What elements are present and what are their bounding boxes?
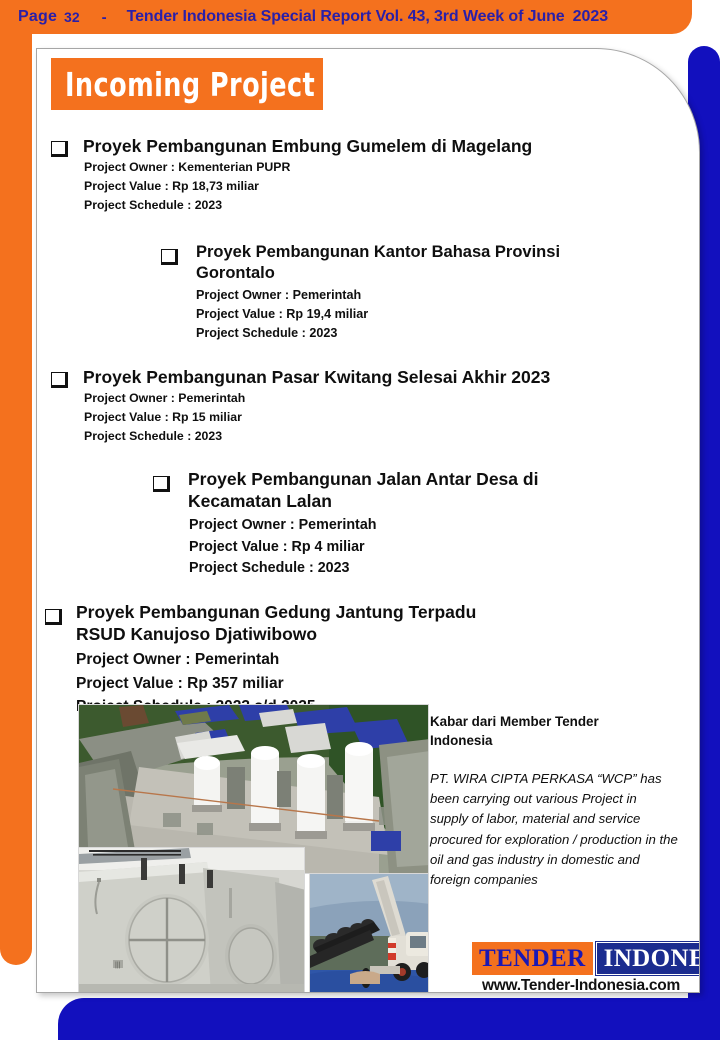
square-bullet-icon [45, 609, 58, 621]
logo-word-indonesia: INDONESIA [596, 942, 700, 975]
logo-word-tender: TENDER [472, 942, 593, 975]
project-item: Proyek Pembangunan Jalan Antar Desa di K… [153, 468, 700, 579]
page-header: Page 32 - Tender Indonesia Special Repor… [18, 4, 608, 30]
header-title: Tender Indonesia Special Report Vol. 43,… [127, 8, 565, 26]
project-details: Project Owner : Pemerintah Project Value… [189, 515, 700, 578]
logo-website-url[interactable]: www.Tender-Indonesia.com [472, 977, 690, 993]
project-item: Proyek Pembangunan Gedung Jantung Terpad… [45, 601, 700, 719]
bottom-blue-bar [58, 998, 720, 1040]
header-year: 2023 [573, 8, 609, 26]
logo-wordmark-row: TENDER INDONESIA [472, 942, 690, 975]
project-value: Project Value : Rp 4 miliar [189, 537, 700, 558]
member-note-body: PT. WIRA CIPTA PERKASA “WCP” has been ca… [430, 769, 678, 890]
left-orange-bar [0, 0, 32, 965]
header-page-label: Page [18, 8, 57, 26]
report-page: Page 32 - Tender Indonesia Special Repor… [0, 0, 720, 1040]
tender-indonesia-logo[interactable]: TENDER INDONESIA www.Tender-Indonesia.co… [472, 942, 690, 993]
project-list: Proyek Pembangunan Embung Gumelem di Mag… [37, 135, 700, 719]
square-bullet-icon [51, 372, 64, 384]
project-heading: Proyek Pembangunan Pasar Kwitang Selesai… [51, 366, 700, 388]
project-item: Proyek Pembangunan Pasar Kwitang Selesai… [51, 366, 700, 446]
square-bullet-icon [51, 141, 64, 153]
member-note: Kabar dari Member Tender Indonesia PT. W… [430, 712, 680, 890]
section-title-banner: Incoming Project [51, 58, 323, 110]
project-heading: Proyek Pembangunan Jalan Antar Desa di K… [153, 468, 700, 512]
section-title-text: Incoming Project [65, 65, 315, 104]
project-schedule: Project Schedule : 2023 [84, 427, 700, 446]
project-title: Proyek Pembangunan Kantor Bahasa Provins… [196, 242, 606, 284]
project-details: Project Owner : Pemerintah Project Value… [196, 286, 700, 343]
project-heading: Proyek Pembangunan Gedung Jantung Terpad… [45, 601, 700, 645]
project-value: Project Value : Rp 19,4 miliar [196, 305, 700, 324]
project-value: Project Value : Rp 15 miliar [84, 408, 700, 427]
project-schedule: Project Schedule : 2023 [84, 196, 700, 215]
project-owner: Project Owner : Pemerintah [76, 648, 700, 672]
photo-collage: ||| [42, 704, 442, 993]
svg-text:|||: ||| [115, 962, 121, 969]
header-separator: - [102, 9, 107, 26]
project-owner: Project Owner : Pemerintah [84, 389, 700, 408]
square-bullet-icon [153, 476, 166, 488]
project-heading: Proyek Pembangunan Kantor Bahasa Provins… [161, 242, 700, 284]
project-schedule: Project Schedule : 2023 [189, 558, 700, 579]
project-heading: Proyek Pembangunan Embung Gumelem di Mag… [51, 135, 700, 157]
project-owner: Project Owner : Kementerian PUPR [84, 158, 700, 177]
project-details: Project Owner : Pemerintah Project Value… [84, 389, 700, 446]
photo-mobile-crane-with-pipes [309, 873, 429, 993]
project-schedule: Project Schedule : 2023 [196, 324, 700, 343]
project-owner: Project Owner : Pemerintah [196, 286, 700, 305]
photo-industrial-equipment-unit: ||| [78, 847, 305, 993]
project-value: Project Value : Rp 357 miliar [76, 672, 700, 696]
project-owner: Project Owner : Pemerintah [189, 515, 700, 536]
square-bullet-icon [161, 249, 174, 261]
project-title: Proyek Pembangunan Embung Gumelem di Mag… [83, 135, 532, 157]
header-page-number: 32 [64, 9, 80, 25]
project-value: Project Value : Rp 18,73 miliar [84, 177, 700, 196]
content-card: Incoming Project Proyek Pembangunan Embu… [36, 48, 700, 993]
project-title: Proyek Pembangunan Jalan Antar Desa di K… [188, 468, 603, 512]
project-item: Proyek Pembangunan Embung Gumelem di Mag… [51, 135, 700, 214]
member-note-title: Kabar dari Member Tender Indonesia [430, 712, 620, 750]
project-details: Project Owner : Kementerian PUPR Project… [84, 158, 700, 214]
project-title: Proyek Pembangunan Pasar Kwitang Selesai… [83, 366, 550, 388]
project-title: Proyek Pembangunan Gedung Jantung Terpad… [76, 601, 506, 645]
project-item: Proyek Pembangunan Kantor Bahasa Provins… [161, 242, 700, 343]
